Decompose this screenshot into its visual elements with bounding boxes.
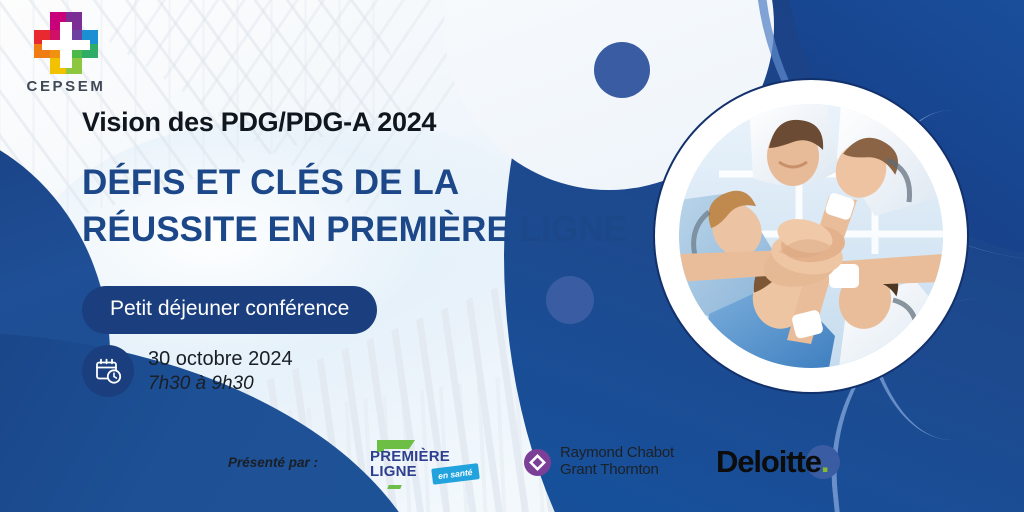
rcgt-line-1: Raymond Chabot bbox=[560, 445, 674, 462]
deloitte-green-dot: . bbox=[821, 444, 829, 479]
sponsor-logo-raymond-chabot-grant-thornton[interactable]: Raymond Chabot Grant Thornton bbox=[524, 445, 674, 479]
page-title: DÉFIS ET CLÉS DE LA RÉUSSITE EN PREMIÈRE… bbox=[82, 160, 642, 254]
medical-team-hands-together-photo bbox=[679, 104, 943, 368]
green-dash-accent bbox=[387, 485, 401, 489]
datetime-text: 30 octobre 2024 7h30 à 9h30 bbox=[148, 348, 293, 394]
calendar-clock-icon bbox=[82, 345, 134, 397]
presented-by-label: Présenté par : bbox=[228, 455, 318, 470]
premiere-ligne-line-1: PREMIÈRE bbox=[370, 449, 450, 464]
photo-ring bbox=[655, 80, 967, 392]
sponsor-logo-deloitte[interactable]: Deloitte. bbox=[716, 444, 828, 480]
event-type-badge: Petit déjeuner conférence bbox=[82, 286, 377, 334]
cepsem-logo[interactable]: CEPSEM bbox=[20, 8, 112, 104]
decorative-dot-middle bbox=[546, 276, 594, 324]
deloitte-wordmark: Deloitte bbox=[716, 444, 821, 479]
sponsors-row: Présenté par : PREMIÈRE LIGNE en santé R… bbox=[228, 432, 828, 492]
cepsem-wordmark: CEPSEM bbox=[20, 78, 112, 95]
rcgt-line-2: Grant Thornton bbox=[560, 462, 674, 479]
sponsor-logo-premiere-ligne[interactable]: PREMIÈRE LIGNE en santé bbox=[370, 438, 474, 486]
headline-line-1: DÉFIS ET CLÉS DE LA bbox=[82, 160, 642, 207]
rcgt-wordmark: Raymond Chabot Grant Thornton bbox=[560, 445, 674, 479]
event-date: 30 octobre 2024 bbox=[148, 348, 293, 370]
purple-diamond-icon bbox=[524, 449, 551, 476]
event-banner: CEPSEM Vision des PDG/PDG-A 2024 DÉFIS E… bbox=[0, 0, 1024, 512]
event-datetime: 30 octobre 2024 7h30 à 9h30 bbox=[82, 345, 293, 397]
event-time: 7h30 à 9h30 bbox=[148, 373, 293, 394]
kicker-text: Vision des PDG/PDG-A 2024 bbox=[82, 107, 436, 138]
decorative-dot-top bbox=[594, 42, 650, 98]
headline-line-2: RÉUSSITE EN PREMIÈRE LIGNE bbox=[82, 207, 642, 254]
